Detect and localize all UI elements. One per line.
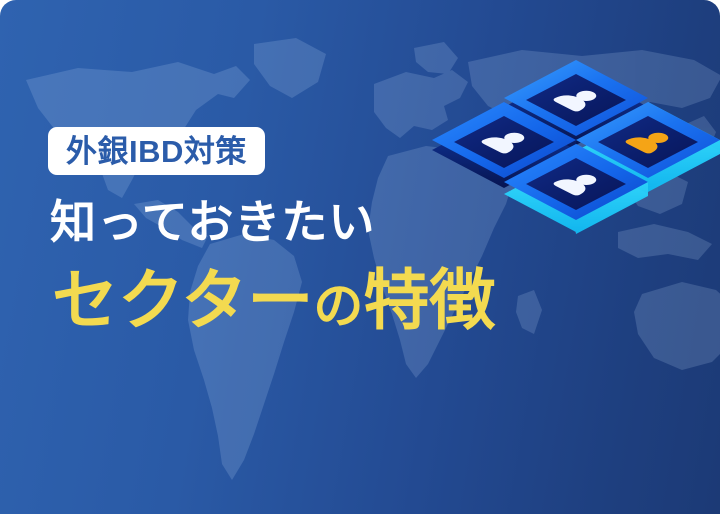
headline-line-2-particle: の	[313, 278, 363, 334]
headline-line-2-part1: セクター	[52, 264, 313, 338]
category-badge: 外銀IBD対策	[48, 127, 265, 175]
isometric-tile-grid	[432, 58, 720, 248]
headline-line-1: 知っておきたい	[50, 196, 375, 249]
category-badge-label: 外銀IBD対策	[66, 136, 247, 167]
headline-line-2: セクター の 特徴	[52, 264, 495, 338]
headline-line-2-part3: 特徴	[363, 264, 495, 338]
promo-banner: 外銀IBD対策 知っておきたい セクター の 特徴	[0, 0, 720, 514]
